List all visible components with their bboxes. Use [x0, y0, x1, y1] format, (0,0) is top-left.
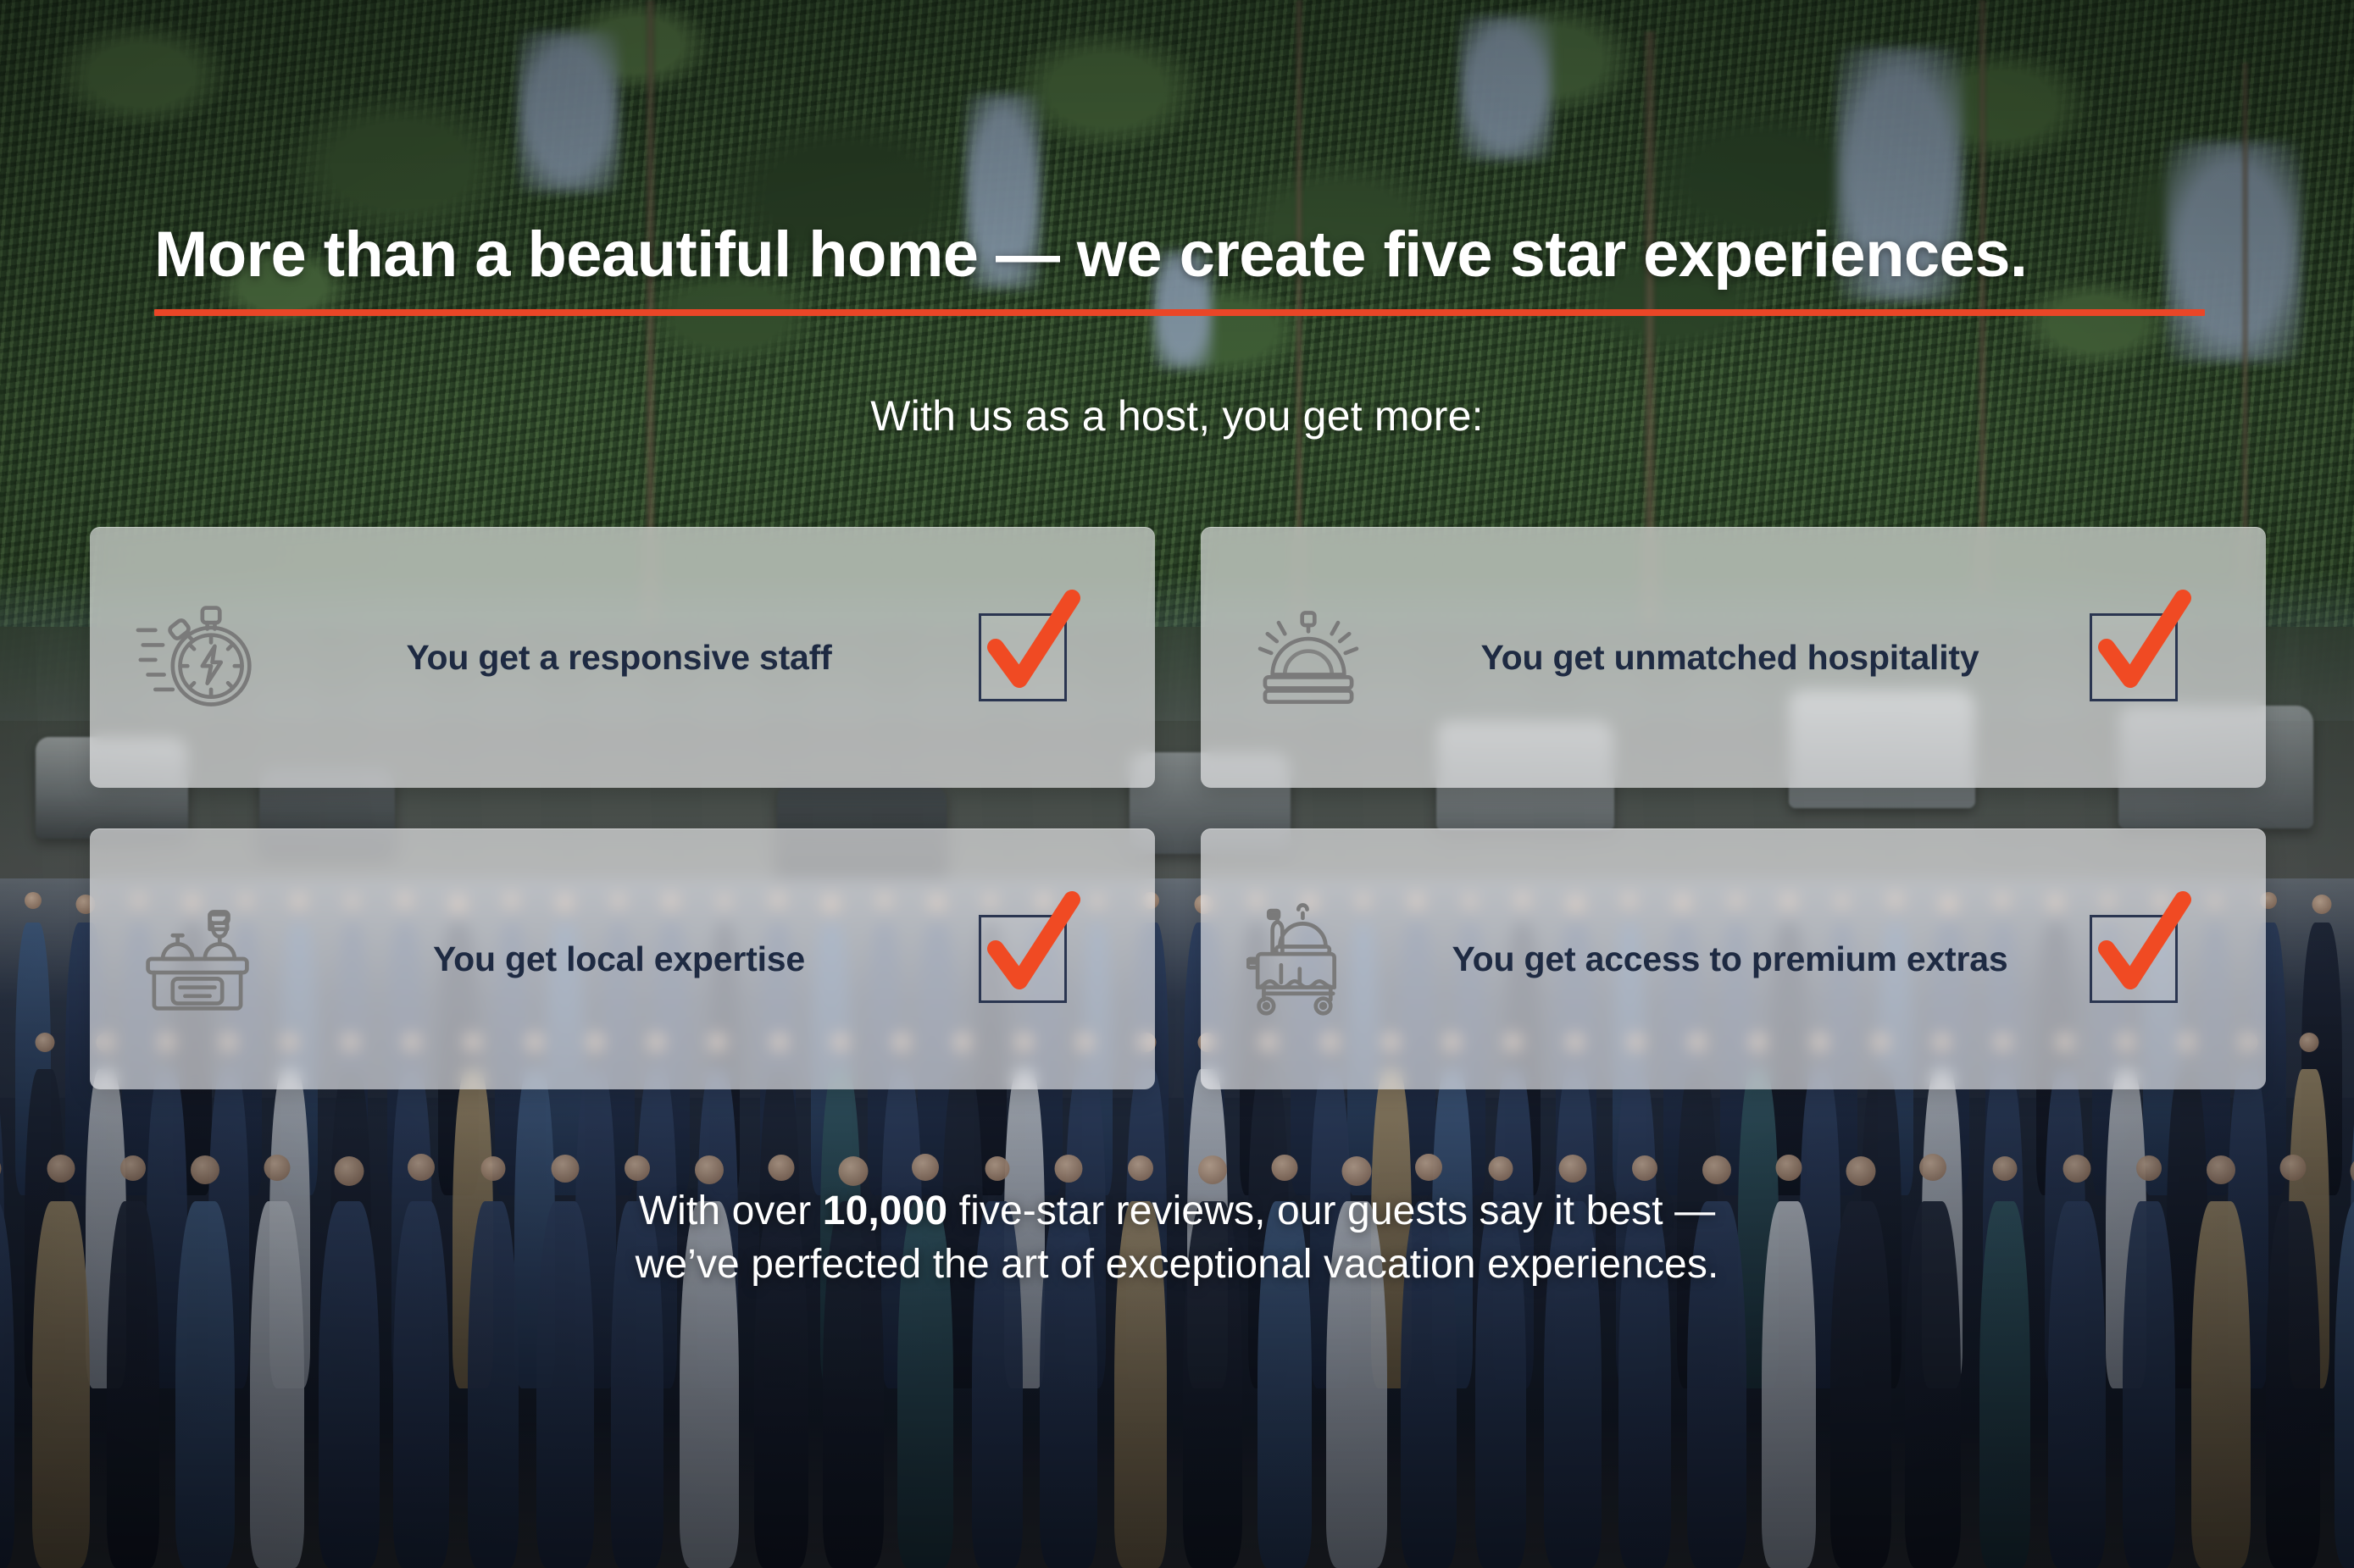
subheading: With us as a host, you get more: [0, 391, 2354, 440]
concierge-desk-icon [90, 895, 259, 1022]
checkmark-icon [974, 893, 1084, 1003]
benefit-label: You get access to premium extras [1370, 939, 2090, 979]
benefit-card-premium-extras[interactable]: You get access to premium extras [1201, 828, 2266, 1089]
room-service-cart-icon [1201, 895, 1370, 1022]
footer-line-2: we’ve perfected the art of exceptional v… [0, 1238, 2354, 1291]
review-count: 10,000 [823, 1188, 947, 1233]
footer-line1-pre: With over [639, 1188, 823, 1233]
checkbox-checked[interactable] [979, 613, 1067, 701]
benefit-card-responsive-staff[interactable]: You get a responsive staff [90, 527, 1155, 788]
checkmark-icon [2085, 591, 2195, 701]
benefit-label: You get a responsive staff [259, 638, 979, 678]
service-bell-icon [1201, 594, 1370, 721]
checkbox-checked[interactable] [2090, 915, 2178, 1003]
checkbox-checked[interactable] [979, 915, 1067, 1003]
headline-block: More than a beautiful home — we create f… [154, 219, 2205, 316]
page-title: More than a beautiful home — we create f… [154, 219, 2205, 291]
checkbox-checked[interactable] [2090, 613, 2178, 701]
hero-content: More than a beautiful home — we create f… [0, 0, 2354, 1568]
benefit-label: You get unmatched hospitality [1370, 638, 2090, 678]
benefit-card-local-expertise[interactable]: You get local expertise [90, 828, 1155, 1089]
checkmark-icon [2085, 893, 2195, 1003]
benefits-grid: You get a responsive staff [90, 527, 2266, 1089]
hero-section: More than a beautiful home — we create f… [0, 0, 2354, 1568]
benefit-card-unmatched-hospitality[interactable]: You get unmatched hospitality [1201, 527, 2266, 788]
checkmark-icon [974, 591, 1084, 701]
benefit-label: You get local expertise [259, 939, 979, 979]
stopwatch-lightning-icon [90, 594, 259, 721]
footer-statement: With over 10,000 five-star reviews, our … [0, 1184, 2354, 1292]
footer-line-1: With over 10,000 five-star reviews, our … [0, 1184, 2354, 1238]
headline-underline [154, 309, 2205, 316]
footer-line1-post: five-star reviews, our guests say it bes… [947, 1188, 1715, 1233]
